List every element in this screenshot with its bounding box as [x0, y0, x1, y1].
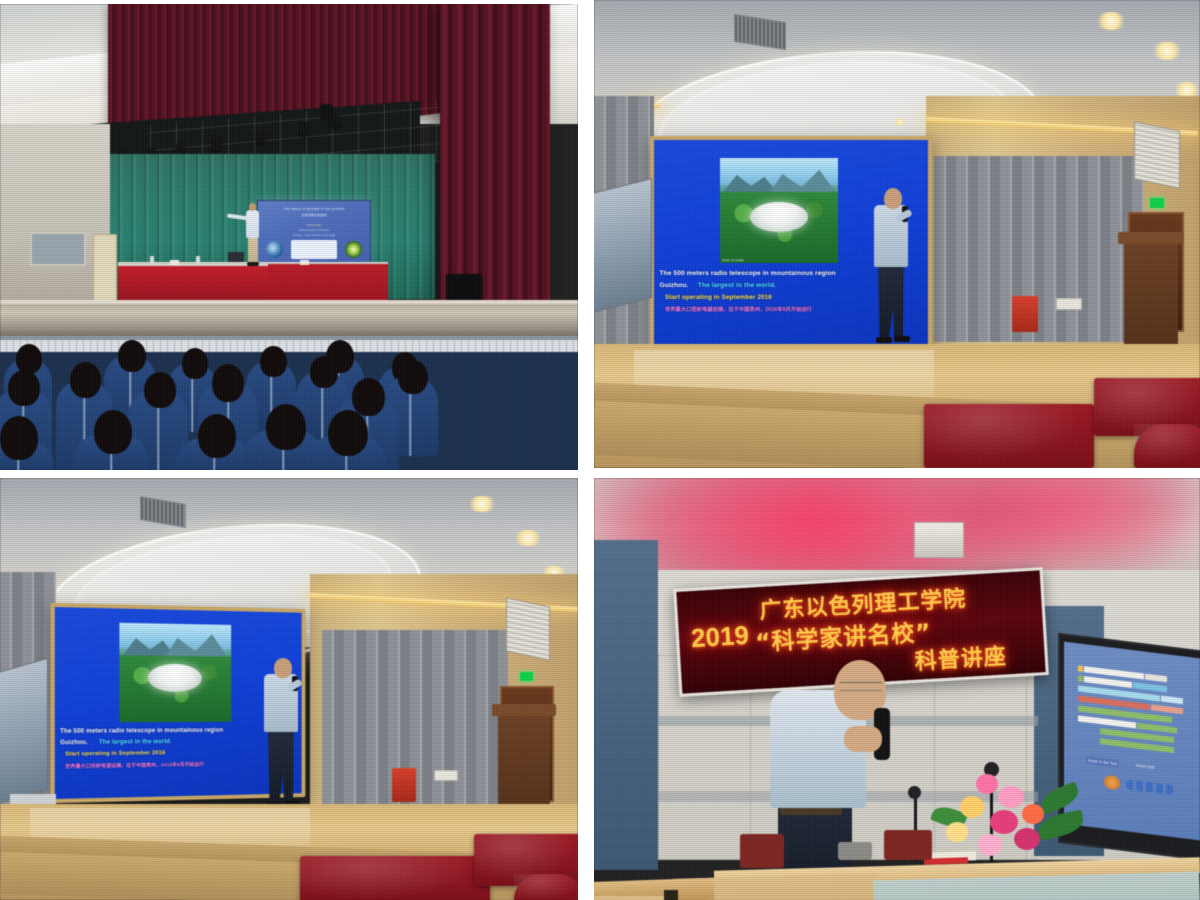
pt-cell	[1161, 696, 1183, 705]
flower-bloom	[960, 796, 984, 818]
audience-chair[interactable]	[300, 856, 490, 900]
flower-bloom	[978, 834, 1002, 856]
student-head	[198, 414, 236, 458]
maroon-side-curtain	[440, 4, 550, 314]
pt-cell	[1151, 704, 1183, 714]
pt-cell	[1145, 674, 1167, 683]
student-head	[70, 362, 101, 398]
wall-socket-plate	[1056, 298, 1082, 310]
name-card	[300, 260, 309, 265]
slide-caption-line3: Start operating in September 2016	[65, 749, 301, 758]
flower-bloom	[990, 810, 1018, 834]
flower-bloom	[976, 774, 998, 794]
flower-bloom	[946, 822, 968, 842]
audience-chair[interactable]	[1134, 424, 1200, 468]
molecule-thumbnail-icon	[266, 241, 283, 258]
audience-chair[interactable]	[514, 874, 578, 900]
laptop-on-table[interactable]	[228, 252, 244, 262]
red-step-stool	[1012, 296, 1038, 332]
chair-back	[740, 834, 784, 868]
speaker-trousers	[248, 236, 258, 264]
front-counter-face	[594, 896, 674, 900]
presenter-head	[274, 658, 292, 678]
pt-cell	[1133, 682, 1167, 692]
student-head	[260, 346, 287, 377]
projection-badge-row	[1126, 779, 1174, 795]
ceiling-downlight	[512, 530, 544, 546]
stage-apron	[0, 304, 578, 338]
speaker-head	[249, 203, 256, 211]
slide-affiliation-1: Schulich Faculty of Chemistry	[264, 229, 364, 233]
flower-bloom	[1014, 828, 1040, 850]
slide-caption-chinese: 世界最大口径射电望远镜，位于中国贵州，2016年9月开始运行	[65, 759, 301, 770]
wall-mounted-loudspeaker	[506, 597, 550, 660]
slide-caption-line2a: Guizhou.	[659, 282, 688, 289]
student-head	[310, 356, 338, 388]
slide-caption-line2b: The largest in the world.	[99, 739, 172, 746]
student-head	[8, 370, 40, 406]
side-projection-image: Made in the Teal Noam Adir	[1064, 642, 1200, 841]
panel-top-right-led-hall[interactable]: Xinhua / Ou Dongqu The 500 meters radio …	[594, 0, 1200, 468]
presenter-hand	[844, 726, 882, 752]
student-head	[144, 372, 176, 408]
crystal-thumbnail-icon	[345, 241, 362, 258]
wooden-podium[interactable]	[498, 710, 550, 818]
student-head	[212, 364, 244, 402]
student-head	[0, 416, 38, 460]
blue-wall-panel	[594, 540, 658, 870]
projection-logo	[1104, 775, 1120, 791]
slide-caption-line2b: The largest in the world.	[698, 282, 776, 289]
exit-sign-icon	[520, 672, 533, 681]
desk-laptop	[838, 842, 872, 860]
head-table-red-skirt-right	[268, 264, 388, 304]
projection-footer-right: Noam Adir	[1136, 762, 1155, 769]
podium-top-surface	[492, 704, 556, 716]
grey-acoustic-panels	[934, 156, 1144, 342]
ceiling-downlight	[1150, 42, 1184, 60]
stage-spotlight-icon	[320, 104, 333, 120]
ceiling-downlight	[1094, 12, 1128, 30]
pt-cell	[1078, 675, 1083, 682]
pt-cell	[1078, 665, 1083, 672]
stage-spotlight-icon	[212, 137, 221, 150]
red-step-stool	[392, 768, 416, 802]
wall-socket-plate	[434, 770, 458, 781]
stage-spotlight-icon	[300, 122, 309, 135]
presenter-head	[884, 188, 902, 209]
projection-footer-left: Made in the Teal	[1086, 756, 1119, 767]
exit-sign-icon	[1150, 198, 1164, 208]
audience-chair[interactable]	[924, 404, 1094, 468]
counter-shadow-gap	[664, 890, 678, 900]
slide-caption-line2a: Guizhou.	[60, 740, 88, 746]
stage-spotlight-icon	[256, 130, 265, 143]
slide-thumbnail-row	[266, 239, 362, 259]
side-projection-screen	[594, 178, 652, 318]
wall-mounted-loudspeaker	[1134, 121, 1180, 189]
student-audience	[0, 352, 578, 470]
flower-bloom	[1022, 804, 1044, 824]
ceiling-downlight	[894, 118, 906, 126]
student-head	[118, 340, 146, 372]
student-head	[398, 360, 428, 394]
chart-thumbnail-icon	[291, 240, 337, 259]
slide-caption-line1: The 500 meters radio telescope in mounta…	[60, 727, 297, 735]
projection-screen-top-left[interactable]: The nature of periodic in the periodic 元…	[257, 200, 371, 264]
photo-collage: The nature of periodic in the periodic 元…	[0, 0, 1200, 900]
fast-telescope-photo	[119, 623, 231, 723]
slide-presenter: Noam Adir	[264, 223, 364, 228]
fast-telescope-photo: Xinhua / Ou Dongqu	[720, 158, 838, 263]
water-bottle	[196, 256, 200, 264]
name-card	[170, 260, 179, 265]
flower-bloom	[998, 786, 1024, 808]
wooden-podium[interactable]	[1124, 238, 1178, 350]
fast-dish-icon	[148, 664, 202, 692]
panel-bottom-left-led-hall-angled[interactable]: The 500 meters radio telescope in mounta…	[0, 478, 578, 900]
student-head	[182, 348, 208, 379]
student-head	[352, 378, 385, 416]
water-bottle	[150, 256, 154, 264]
side-projection-screen	[0, 658, 48, 811]
podium-top-surface	[1118, 232, 1184, 244]
banner-tail: 科普讲座	[914, 638, 1008, 675]
slide-title-line2: 元素周期表的奥秘	[264, 213, 364, 218]
panel-bottom-right-banner-room[interactable]: 广东以色列理工学院 2019 “科学家讲名校” 科普讲座	[594, 478, 1200, 900]
fast-dish-icon	[750, 202, 808, 232]
chair-back	[884, 830, 932, 860]
pt-cell	[1137, 723, 1177, 734]
presenter-glasses-icon	[840, 682, 882, 691]
student-head	[94, 410, 132, 454]
student-head	[328, 410, 368, 456]
student-head	[266, 404, 306, 450]
desk-microphone-head	[908, 786, 921, 799]
speaker-shoes	[247, 262, 259, 266]
presenter-belt	[780, 808, 842, 815]
photo-credit: Xinhua / Ou Dongqu	[722, 259, 744, 262]
slide-affiliation-2: Technion – Israel Institute of Technolog…	[264, 234, 364, 238]
ceiling-downlight	[466, 496, 498, 512]
slide-title-line1: The nature of periodic in the periodic	[264, 207, 364, 212]
presenter-shoe	[876, 337, 892, 343]
presenter-shoe	[894, 336, 910, 342]
speaker-shirt	[246, 210, 259, 238]
wall-window	[30, 232, 86, 266]
panel-top-left-auditorium[interactable]: The nature of periodic in the periodic 元…	[0, 4, 578, 470]
banner-year: 2019	[690, 620, 750, 654]
ceiling-light-box	[914, 522, 964, 558]
